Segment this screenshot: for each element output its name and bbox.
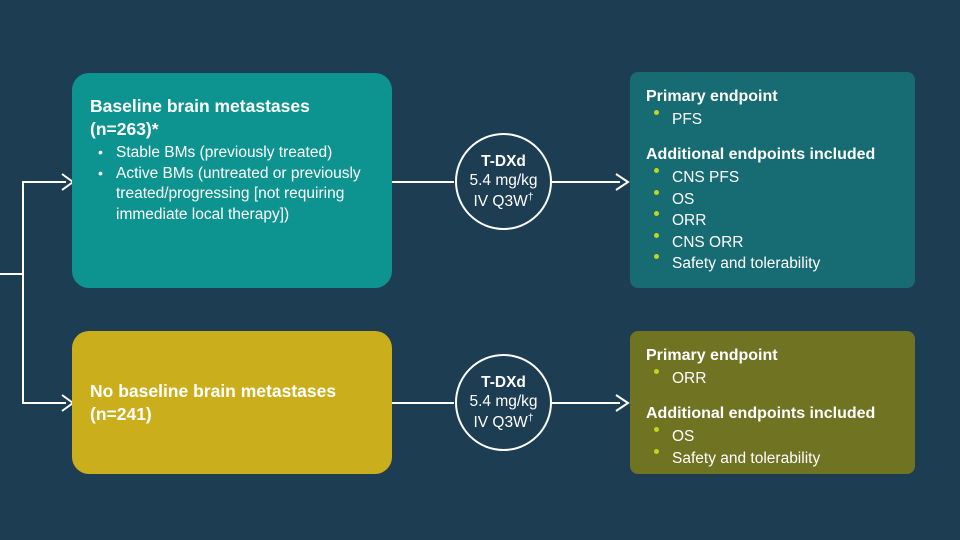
treatment-dose: 5.4 mg/kg xyxy=(469,392,537,411)
list-item: ORR xyxy=(646,369,899,389)
connector-split-vertical xyxy=(22,182,24,404)
treatment-dose: 5.4 mg/kg xyxy=(469,171,537,190)
connector-cohort-1-to-treatment xyxy=(392,181,454,183)
bullet-dot-icon xyxy=(654,110,659,115)
additional-endpoints-list: OS Safety and tolerability xyxy=(646,427,899,469)
list-item: ORR xyxy=(646,211,899,231)
bullet-dot-icon xyxy=(654,254,659,259)
list-item-label: Stable BMs (previously treated) xyxy=(116,144,332,161)
connector-entry-stub xyxy=(0,273,23,275)
list-item-label: ORR xyxy=(672,370,706,387)
bullet-dot-icon xyxy=(654,233,659,238)
connector-cohort-2-to-treatment xyxy=(392,402,454,404)
list-item-label: Active BMs (untreated or previously trea… xyxy=(116,165,361,223)
primary-endpoint-heading: Primary endpoint xyxy=(646,86,899,108)
treatment-schedule: IV Q3W† xyxy=(473,412,533,433)
cohort-title-line2: (n=263)* xyxy=(90,118,374,141)
connector-treatment-to-endpoints-1 xyxy=(552,181,620,183)
primary-endpoint-list: PFS xyxy=(646,110,899,130)
list-item-label: CNS PFS xyxy=(672,169,739,186)
cohort-title: No baseline brain metastases (n=241) xyxy=(90,380,374,426)
treatment-circle-cohort-2: T-DXd 5.4 mg/kg IV Q3W† xyxy=(455,354,552,451)
additional-endpoints-heading: Additional endpoints included xyxy=(646,403,899,425)
list-item: OS xyxy=(646,190,899,210)
list-item-label: OS xyxy=(672,428,694,445)
cohort-criteria-list: • Stable BMs (previously treated) • Acti… xyxy=(90,143,374,226)
list-item-label: OS xyxy=(672,191,694,208)
endpoints-box-cohort-1: Primary endpoint PFS Additional endpoint… xyxy=(630,72,915,288)
bullet-dot-icon xyxy=(654,168,659,173)
bullet-dot-icon xyxy=(654,369,659,374)
connector-treatment-to-endpoints-2 xyxy=(552,402,620,404)
cohort-title-line2: (n=241) xyxy=(90,403,374,426)
treatment-schedule-text: IV Q3W xyxy=(473,193,527,210)
primary-endpoint-heading: Primary endpoint xyxy=(646,345,899,367)
cohort-title: Baseline brain metastases (n=263)* xyxy=(90,95,374,141)
list-item-label: ORR xyxy=(672,212,706,229)
list-item-label: Safety and tolerability xyxy=(672,255,820,272)
list-item: Safety and tolerability xyxy=(646,449,899,469)
bullet-dot-icon xyxy=(654,211,659,216)
additional-endpoints-list: CNS PFS OS ORR CNS ORR Safety and tolera… xyxy=(646,168,899,274)
cohort-title-line1: No baseline brain metastases xyxy=(90,380,374,403)
study-design-diagram: Baseline brain metastases (n=263)* • Sta… xyxy=(0,0,960,540)
list-item: CNS ORR xyxy=(646,233,899,253)
bullet-dot-icon xyxy=(654,427,659,432)
treatment-schedule: IV Q3W† xyxy=(473,191,533,212)
list-item-label: PFS xyxy=(672,111,702,128)
bullet-marker: • xyxy=(98,143,103,161)
cohort-box-baseline-brain-metastases: Baseline brain metastases (n=263)* • Sta… xyxy=(72,73,392,288)
primary-endpoint-list: ORR xyxy=(646,369,899,389)
list-item: PFS xyxy=(646,110,899,130)
bullet-dot-icon xyxy=(654,190,659,195)
list-item: CNS PFS xyxy=(646,168,899,188)
list-item-label: Safety and tolerability xyxy=(672,450,820,467)
treatment-circle-cohort-1: T-DXd 5.4 mg/kg IV Q3W† xyxy=(455,133,552,230)
list-item-label: CNS ORR xyxy=(672,234,743,251)
list-item: Safety and tolerability xyxy=(646,254,899,274)
list-item: OS xyxy=(646,427,899,447)
cohort-title-line1: Baseline brain metastases xyxy=(90,95,374,118)
treatment-schedule-text: IV Q3W xyxy=(473,414,527,431)
additional-endpoints-heading: Additional endpoints included xyxy=(646,144,899,166)
treatment-drug: T-DXd xyxy=(481,152,526,171)
treatment-drug: T-DXd xyxy=(481,373,526,392)
treatment-schedule-footnote: † xyxy=(528,412,534,424)
bullet-marker: • xyxy=(98,164,103,182)
cohort-box-no-baseline-brain-metastases: No baseline brain metastases (n=241) xyxy=(72,331,392,474)
list-item: • Active BMs (untreated or previously tr… xyxy=(90,164,374,225)
list-item: • Stable BMs (previously treated) xyxy=(90,143,374,163)
bullet-dot-icon xyxy=(654,449,659,454)
endpoints-box-cohort-2: Primary endpoint ORR Additional endpoint… xyxy=(630,331,915,474)
treatment-schedule-footnote: † xyxy=(528,191,534,203)
